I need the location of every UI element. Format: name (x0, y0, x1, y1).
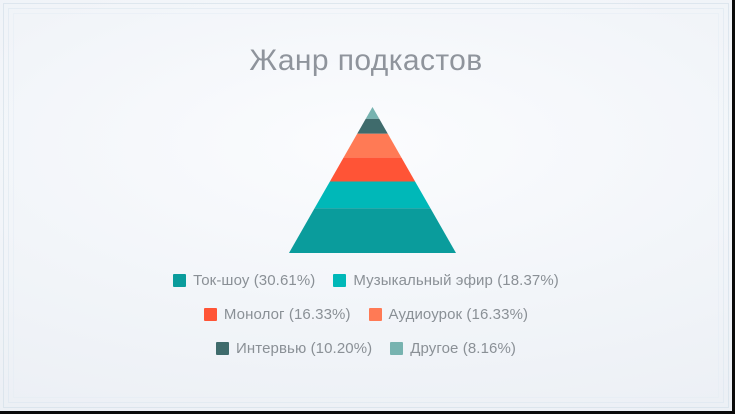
pyramid-band[interactable] (357, 119, 388, 134)
legend-swatch-icon (216, 342, 229, 355)
pyramid-band[interactable] (330, 158, 415, 182)
legend-item-tok-shou[interactable]: Ток-шоу (30.61%) (173, 272, 315, 289)
pyramid-chart: Жанр подкастов Ток-шоу (30.61%) Музыкаль… (0, 0, 732, 411)
legend-item-label: Музыкальный эфир (18.37%) (353, 272, 558, 289)
legend-item-label: Ток-шоу (30.61%) (193, 272, 315, 289)
pyramid-band[interactable] (366, 107, 380, 119)
legend-item-label: Аудиоурок (16.33%) (389, 306, 529, 323)
legend-swatch-icon (390, 342, 403, 355)
pyramid-band[interactable] (289, 208, 456, 253)
legend-swatch-icon (204, 308, 217, 321)
legend-row: Ток-шоу (30.61%) Музыкальный эфир (18.37… (0, 263, 732, 297)
chart-title: Жанр подкастов (0, 44, 732, 78)
chart-legend: Ток-шоу (30.61%) Музыкальный эфир (18.37… (0, 263, 732, 365)
legend-item-intervyu[interactable]: Интервью (10.20%) (216, 340, 372, 357)
pyramid-band[interactable] (344, 134, 402, 158)
legend-item-label: Другое (8.16%) (410, 340, 516, 357)
legend-item-muzykalnyy-efir[interactable]: Музыкальный эфир (18.37%) (333, 272, 558, 289)
legend-item-monolog[interactable]: Монолог (16.33%) (204, 306, 351, 323)
legend-item-audiourok[interactable]: Аудиоурок (16.33%) (369, 306, 529, 323)
legend-item-label: Интервью (10.20%) (236, 340, 372, 357)
pyramid-graphic (289, 107, 456, 253)
pyramid-band[interactable] (315, 181, 431, 208)
legend-swatch-icon (173, 274, 186, 287)
pyramid-svg (289, 107, 456, 253)
legend-row: Интервью (10.20%) Другое (8.16%) (0, 331, 732, 365)
slide-screenshot: Жанр подкастов Ток-шоу (30.61%) Музыкаль… (0, 0, 735, 414)
legend-swatch-icon (333, 274, 346, 287)
legend-swatch-icon (369, 308, 382, 321)
legend-item-drugoe[interactable]: Другое (8.16%) (390, 340, 516, 357)
legend-row: Монолог (16.33%) Аудиоурок (16.33%) (0, 297, 732, 331)
legend-item-label: Монолог (16.33%) (224, 306, 351, 323)
